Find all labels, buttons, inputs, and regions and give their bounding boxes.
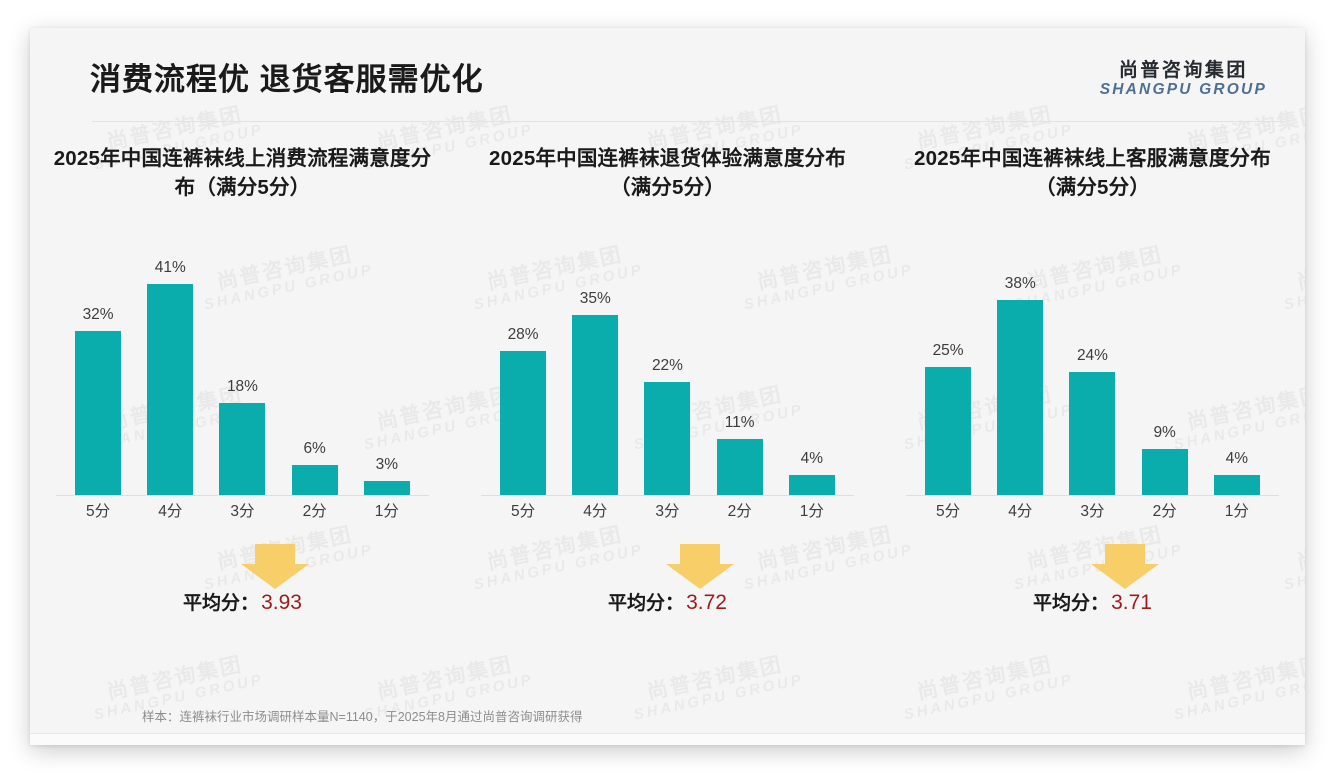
x-axis-tick-label: 1分 [1203, 499, 1272, 521]
logo-chinese-name: 尚普咨询集团 [1100, 60, 1267, 81]
x-axis-tick-label: 1分 [353, 499, 422, 521]
bar-chart-plot: 28%35%22%11%4%5分4分3分2分1分 [487, 236, 848, 522]
x-axis-tick-label: 5分 [64, 499, 133, 521]
bar[interactable] [1142, 449, 1188, 496]
bar-value-label: 22% [652, 357, 683, 375]
bar-slot: 32% [64, 236, 133, 496]
bar-slot: 25% [914, 236, 983, 496]
bar[interactable] [75, 331, 121, 496]
x-axis-tick-label: 5分 [489, 499, 558, 521]
average-score-label: 平均分： [608, 593, 684, 614]
slide-card: 尚普咨询集团SHANGPU GROUP尚普咨询集团SHANGPU GROUP尚普… [30, 28, 1305, 745]
brand-logo: 尚普咨询集团 SHANGPU GROUP [1100, 60, 1267, 99]
x-axis-tick-label: 4分 [561, 499, 630, 521]
bar[interactable] [500, 351, 546, 496]
average-callout: 平均分：3.71 [890, 544, 1295, 624]
bar[interactable] [572, 315, 618, 496]
x-axis-tick-labels: 5分4分3分2分1分 [62, 498, 423, 522]
header-divider [92, 121, 1284, 122]
x-axis-tick-label: 5分 [914, 499, 983, 521]
bar-value-label: 4% [1226, 450, 1248, 468]
bar-value-label: 18% [227, 378, 258, 396]
x-axis-line [481, 495, 854, 496]
bar-slot: 3% [353, 236, 422, 496]
chart-panel-1: 2025年中国连裤袜线上消费流程满意度分布（满分5分）32%41%18%6%3%… [30, 144, 455, 624]
average-callout: 平均分：3.93 [40, 544, 445, 624]
x-axis-tick-label: 3分 [1058, 499, 1127, 521]
chart-title: 2025年中国连裤袜线上客服满意度分布（满分5分） [890, 144, 1295, 206]
bar[interactable] [925, 367, 971, 496]
bar-chart-plot: 25%38%24%9%4%5分4分3分2分1分 [912, 236, 1273, 522]
bar-value-label: 41% [155, 259, 186, 277]
bar-group: 28%35%22%11%4% [487, 236, 848, 496]
average-score-text: 平均分：3.93 [40, 588, 445, 615]
bar-value-label: 35% [580, 290, 611, 308]
bar-slot: 38% [986, 236, 1055, 496]
watermark-text: 尚普咨询集团SHANGPU GROUP [628, 650, 805, 723]
x-axis-tick-label: 4分 [986, 499, 1055, 521]
bar-slot: 4% [778, 236, 847, 496]
slide-header: 消费流程优 退货客服需优化 尚普咨询集团 SHANGPU GROUP [30, 28, 1305, 122]
bar-value-label: 6% [303, 440, 325, 458]
average-score-text: 平均分：3.72 [465, 588, 870, 615]
chart-panel-3: 2025年中国连裤袜线上客服满意度分布（满分5分）25%38%24%9%4%5分… [880, 144, 1305, 624]
bar-value-label: 4% [801, 450, 823, 468]
watermark-text: 尚普咨询集团SHANGPU GROUP [898, 650, 1075, 723]
bar-value-label: 25% [933, 342, 964, 360]
bar-value-label: 9% [1153, 424, 1175, 442]
bar-group: 25%38%24%9%4% [912, 236, 1273, 496]
charts-container: 2025年中国连裤袜线上消费流程满意度分布（满分5分）32%41%18%6%3%… [30, 144, 1305, 624]
bar-slot: 28% [489, 236, 558, 496]
bar[interactable] [644, 382, 690, 496]
bar-slot: 22% [633, 236, 702, 496]
average-score-text: 平均分：3.71 [890, 588, 1295, 615]
bar-slot: 6% [280, 236, 349, 496]
bar[interactable] [147, 284, 193, 496]
bar[interactable] [789, 475, 835, 496]
bar-slot: 35% [561, 236, 630, 496]
sample-footnote: 样本：连裤袜行业市场调研样本量N=1140，于2025年8月通过尚普咨询调研获得 [142, 706, 582, 725]
x-axis-tick-label: 2分 [1130, 499, 1199, 521]
x-axis-tick-label: 2分 [280, 499, 349, 521]
bar[interactable] [364, 481, 410, 497]
slide-footer: ©2025.10 SHANGPU GROUP www.shangpu-china… [30, 734, 1305, 745]
bar-slot: 41% [136, 236, 205, 496]
bar[interactable] [1214, 475, 1260, 496]
bar-slot: 4% [1203, 236, 1272, 496]
x-axis-line [906, 495, 1279, 496]
x-axis-line [56, 495, 429, 496]
x-axis-tick-label: 1分 [778, 499, 847, 521]
x-axis-tick-label: 2分 [705, 499, 774, 521]
average-callout: 平均分：3.72 [465, 544, 870, 624]
bar[interactable] [1069, 372, 1115, 496]
bar-slot: 24% [1058, 236, 1127, 496]
x-axis-tick-labels: 5分4分3分2分1分 [487, 498, 848, 522]
x-axis-tick-label: 4分 [136, 499, 205, 521]
bar-value-label: 11% [725, 414, 755, 432]
x-axis-tick-labels: 5分4分3分2分1分 [912, 498, 1273, 522]
bar-slot: 11% [705, 236, 774, 496]
bar-value-label: 24% [1077, 347, 1108, 365]
chart-panel-2: 2025年中国连裤袜退货体验满意度分布（满分5分）28%35%22%11%4%5… [455, 144, 880, 624]
bar-value-label: 3% [376, 456, 398, 474]
average-score-label: 平均分： [183, 593, 259, 614]
watermark-text: 尚普咨询集团SHANGPU GROUP [1168, 650, 1305, 723]
bar[interactable] [292, 465, 338, 496]
x-axis-tick-label: 3分 [208, 499, 277, 521]
x-axis-tick-label: 3分 [633, 499, 702, 521]
bar[interactable] [219, 403, 265, 496]
bar-value-label: 38% [1005, 275, 1036, 293]
bar[interactable] [717, 439, 763, 496]
bar-group: 32%41%18%6%3% [62, 236, 423, 496]
chart-title: 2025年中国连裤袜退货体验满意度分布（满分5分） [465, 144, 870, 206]
bar-value-label: 28% [508, 326, 539, 344]
average-score-value: 3.72 [686, 591, 727, 614]
bar[interactable] [997, 300, 1043, 496]
average-score-value: 3.71 [1111, 591, 1152, 614]
page-title: 消费流程优 退货客服需优化 [90, 54, 484, 99]
average-score-label: 平均分： [1033, 593, 1109, 614]
chart-title: 2025年中国连裤袜线上消费流程满意度分布（满分5分） [40, 144, 445, 206]
bar-slot: 18% [208, 236, 277, 496]
bar-value-label: 32% [83, 306, 114, 324]
logo-english-name: SHANGPU GROUP [1100, 81, 1267, 98]
average-score-value: 3.93 [261, 591, 302, 614]
bar-chart-plot: 32%41%18%6%3%5分4分3分2分1分 [62, 236, 423, 522]
bar-slot: 9% [1130, 236, 1199, 496]
